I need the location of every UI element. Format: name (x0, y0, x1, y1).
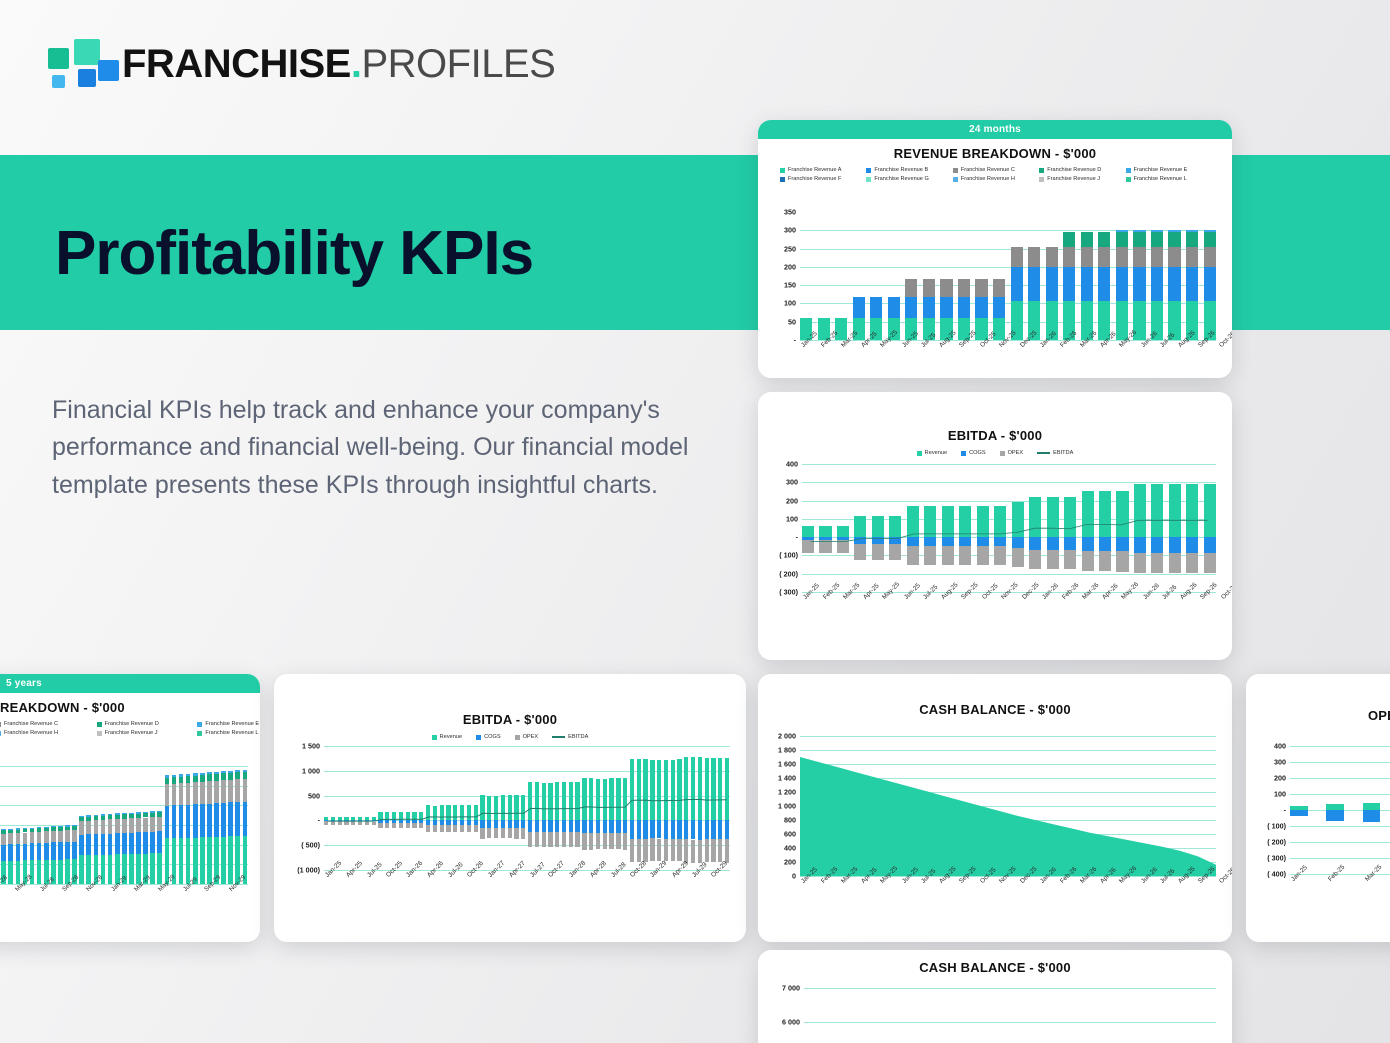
bar-segment (129, 813, 134, 814)
bar-column (143, 766, 148, 884)
y-axis-tick: 250 (784, 244, 796, 253)
bar-column (8, 766, 13, 884)
bar-segment (58, 826, 63, 827)
bar-segment (94, 834, 99, 855)
bar-segment (108, 834, 113, 855)
bar-segment (1204, 247, 1216, 267)
legend-item: EBITDA (1037, 450, 1073, 456)
bar-column (115, 766, 120, 884)
legend-item: Revenue (432, 734, 462, 740)
bar-segment (37, 860, 42, 884)
legend-label: Franchise Revenue E (205, 721, 259, 727)
bar-segment (1133, 232, 1145, 247)
bar-segment (1081, 247, 1093, 267)
bar-segment (1290, 810, 1308, 816)
hero-paragraph: Financial KPIs help track and enhance yo… (52, 392, 712, 504)
bar-segment (72, 830, 77, 842)
chart-xaxis-revenue-24: Jan-25Feb-25Mar-25Apr-25May-25Jun-25Jul-… (800, 344, 1216, 351)
bar-segment (1, 829, 6, 830)
y-axis-tick: ( 400) (1267, 870, 1286, 879)
bar-segment (179, 838, 184, 884)
y-axis-tick: 300 (1274, 758, 1286, 767)
bar-segment (143, 832, 148, 854)
bar-segment (44, 831, 49, 842)
legend-item: Franchise Revenue E (1126, 167, 1210, 173)
bar-segment (72, 825, 77, 826)
legend-swatch-icon (515, 735, 520, 740)
bar-segment (200, 804, 205, 837)
legend-swatch-icon (1037, 452, 1050, 454)
chart-plot-ebitda-24: 400300200100-( 100)( 200)( 300) (802, 464, 1216, 592)
bar-segment (16, 828, 21, 829)
bar-segment (214, 772, 219, 774)
bar-series (0, 766, 248, 884)
bar-column (136, 766, 141, 884)
bar-column (58, 766, 63, 884)
y-axis-tick: 1 000 (302, 766, 320, 775)
bar-segment (8, 830, 13, 833)
chart-title-revenue-24: REVENUE BREAKDOWN - $'000 (758, 146, 1232, 161)
bar-segment (235, 779, 240, 802)
bar-segment (207, 837, 212, 884)
bar-segment (30, 843, 35, 860)
y-axis-tick: - (796, 533, 798, 542)
bar-segment (923, 279, 935, 297)
y-axis-tick: 1 800 (778, 746, 796, 755)
bar-segment (207, 772, 212, 774)
bar-segment (186, 783, 191, 805)
bar-segment (1204, 267, 1216, 301)
y-axis-tick: 0 (792, 872, 796, 881)
brand-name-light: PROFILES (361, 42, 555, 86)
bar-column (122, 766, 127, 884)
bar-segment (1046, 267, 1058, 301)
y-axis-tick: 300 (786, 478, 798, 487)
legend-label: EBITDA (1053, 450, 1073, 456)
bar-column (835, 212, 847, 340)
legend-item: Franchise Revenue E (197, 721, 260, 727)
legend-item: Franchise Revenue L (1126, 176, 1210, 182)
bar-segment (1081, 267, 1093, 301)
bar-segment (101, 816, 106, 820)
bar-segment (1168, 267, 1180, 301)
y-axis-tick: ( 200) (779, 569, 798, 578)
bar-column (221, 766, 226, 884)
bar-column (193, 766, 198, 884)
bar-column (1116, 212, 1128, 340)
logo-mark-icon (46, 38, 108, 90)
legend-item: Franchise Revenue J (97, 730, 196, 736)
bar-segment (150, 811, 155, 812)
bar-segment (1133, 230, 1145, 233)
bar-segment (1116, 247, 1128, 267)
brand-logo: FRANCHISE.PROFILES (46, 38, 555, 90)
bar-column (1098, 212, 1110, 340)
bar-segment (8, 829, 13, 830)
bar-segment (214, 774, 219, 781)
bar-segment (86, 821, 91, 835)
y-axis-tick: - (794, 336, 796, 345)
card-cash-balance-5-years[interactable]: CASH BALANCE - $'000 7 0006 0005 000 (758, 950, 1232, 1043)
y-axis-tick: 150 (784, 281, 796, 290)
bar-segment (122, 819, 127, 833)
y-axis-tick: 50 (788, 317, 796, 326)
bar-segment (79, 855, 84, 884)
bar-segment (115, 833, 120, 854)
bar-segment (129, 833, 134, 854)
bar-segment (1326, 810, 1344, 821)
y-axis-tick: ( 200) (1267, 838, 1286, 847)
bar-segment (143, 813, 148, 817)
bar-segment (200, 775, 205, 782)
bar-segment (1168, 247, 1180, 267)
bar-segment (16, 833, 21, 844)
chart-xaxis-ebitda-24: Jan-25Feb-25Mar-25Apr-25May-25Jun-25Jul-… (802, 596, 1218, 603)
bar-column (1326, 746, 1344, 874)
bar-segment (79, 835, 84, 856)
card-cash-balance-24-months[interactable]: CASH BALANCE - $'000 2 0001 8001 6001 40… (758, 674, 1232, 942)
bar-segment (221, 780, 226, 803)
bar-segment (1, 830, 6, 833)
y-axis-tick: 500 (308, 791, 320, 800)
bar-segment (1046, 247, 1058, 267)
legend-label: Franchise Revenue L (1134, 176, 1187, 182)
bar-segment (94, 820, 99, 834)
legend-swatch-icon (1126, 177, 1131, 182)
legend-label: Franchise Revenue C (4, 721, 58, 727)
bar-column (1168, 212, 1180, 340)
y-axis-tick: - (1284, 806, 1286, 815)
bar-segment (1168, 232, 1180, 247)
bar-segment (30, 829, 35, 832)
bar-segment (1168, 230, 1180, 233)
bar-segment (221, 771, 226, 773)
bar-column (958, 212, 970, 340)
bar-column (235, 766, 240, 884)
y-axis-tick: ( 300) (1267, 854, 1286, 863)
gridline (324, 870, 730, 871)
bar-segment (993, 297, 1005, 318)
bar-segment (993, 279, 1005, 297)
chart-xaxis-cash-24: Jan-25Feb-25Mar-25Apr-25May-25Jun-25Jul-… (800, 880, 1220, 887)
chart-xaxis-ebitda-5: Jan-25Apr-25Jul-25Oct-25Jan-26Apr-26Jul-… (324, 874, 730, 881)
x-axis-tick: Oct-26 (1218, 866, 1232, 885)
bar-segment (179, 774, 184, 776)
bar-segment (79, 816, 84, 817)
bar-segment (129, 814, 134, 818)
bar-segment (853, 297, 865, 318)
bar-segment (157, 853, 162, 884)
bar-segment (58, 860, 63, 884)
bar-segment (86, 817, 91, 821)
card-ebitda-5-years[interactable]: EBITDA - $'000 RevenueCOGSOPEXEBITDA 1 5… (274, 674, 746, 942)
bar-segment (8, 833, 13, 844)
bar-segment (8, 844, 13, 861)
bar-segment (243, 779, 248, 802)
legend-swatch-icon (197, 731, 202, 736)
y-axis-tick: 350 (784, 208, 796, 217)
bar-segment (1151, 230, 1163, 233)
legend-item: OPEX (1000, 450, 1024, 456)
bar-segment (23, 828, 28, 829)
bar-segment (143, 818, 148, 832)
chart-legend-ebitda-5: RevenueCOGSOPEXEBITDA (274, 734, 746, 740)
bar-column (179, 766, 184, 884)
bar-segment (157, 831, 162, 853)
bar-segment (65, 827, 70, 831)
y-axis-tick: 100 (786, 514, 798, 523)
bar-segment (200, 782, 205, 804)
legend-item: Franchise Revenue D (1039, 167, 1123, 173)
legend-swatch-icon (917, 451, 922, 456)
bar-column (1204, 212, 1216, 340)
bar-column (1133, 212, 1145, 340)
bar-segment (186, 838, 191, 884)
bar-segment (65, 830, 70, 842)
bar-column (1011, 212, 1023, 340)
bar-column (30, 766, 35, 884)
bar-segment (16, 861, 21, 884)
y-axis-tick: 800 (784, 816, 796, 825)
bar-segment (37, 832, 42, 843)
chart-title-ebitda-24: EBITDA - $'000 (758, 428, 1232, 443)
bar-column (1186, 212, 1198, 340)
bar-column (108, 766, 113, 884)
bar-segment (193, 782, 198, 804)
bar-column (905, 212, 917, 340)
y-axis-tick: (1 000) (297, 866, 320, 875)
legend-item: COGS (476, 734, 500, 740)
chart-legend-revenue-5: Franchise Revenue CFranchise Revenue DFr… (0, 721, 260, 736)
legend-item: Revenue (917, 450, 947, 456)
chart-title-ebitda-5: EBITDA - $'000 (274, 712, 746, 727)
bar-segment (172, 775, 177, 777)
legend-swatch-icon (197, 722, 202, 727)
bar-segment (228, 836, 233, 884)
legend-item: EBITDA (552, 734, 588, 740)
legend-label: OPEX (1008, 450, 1024, 456)
bar-column (888, 212, 900, 340)
y-axis-tick: 1 500 (302, 742, 320, 751)
legend-label: Franchise Revenue G (874, 176, 928, 182)
bar-segment (94, 816, 99, 820)
bar-segment (44, 827, 49, 828)
bar-segment (1098, 232, 1110, 247)
legend-label: Franchise Revenue L (205, 730, 258, 736)
bar-column (1063, 212, 1075, 340)
chart-title-cash-24: CASH BALANCE - $'000 (758, 702, 1232, 717)
legend-item: Franchise Revenue A (780, 167, 864, 173)
legend-label: EBITDA (568, 734, 588, 740)
legend-label: Franchise Revenue H (961, 176, 1015, 182)
bar-segment (1151, 267, 1163, 301)
bar-column (44, 766, 49, 884)
bar-segment (172, 777, 177, 784)
bar-segment (115, 819, 120, 833)
legend-label: Franchise Revenue B (874, 167, 928, 173)
bar-segment (51, 827, 56, 830)
legend-item: COGS (961, 450, 985, 456)
bar-segment (157, 811, 162, 812)
chart-legend-revenue-24: Franchise Revenue AFranchise Revenue BFr… (780, 167, 1210, 182)
card-ebitda-24-months[interactable]: EBITDA - $'000 RevenueCOGSOPEXEBITDA 400… (758, 392, 1232, 660)
bar-segment (37, 827, 42, 828)
bar-segment (51, 842, 56, 859)
bar-segment (16, 830, 21, 833)
bar-column (101, 766, 106, 884)
legend-item: Franchise Revenue D (97, 721, 196, 727)
bar-segment (179, 805, 184, 838)
bar-segment (172, 784, 177, 806)
y-axis-tick: ( 500) (301, 841, 320, 850)
bar-column (1151, 212, 1163, 340)
bar-segment (1116, 230, 1128, 233)
bar-column (993, 212, 1005, 340)
bar-column (940, 212, 952, 340)
legend-label: COGS (969, 450, 985, 456)
bar-segment (214, 803, 219, 837)
bar-segment (16, 844, 21, 861)
chart-plot-revenue-5 (0, 766, 248, 884)
y-axis-tick: 1 200 (778, 788, 796, 797)
bar-segment (108, 855, 113, 884)
bar-segment (1133, 267, 1145, 301)
legend-swatch-icon (780, 168, 785, 173)
bar-segment (179, 783, 184, 805)
chart-xaxis-revenue-5: Jan-27Mar-27May-27Jul-27Sep-27Nov-27Jan-… (0, 888, 248, 895)
bar-segment (136, 812, 141, 813)
chart-title-opex: OPE (1246, 708, 1390, 723)
legend-label: Franchise Revenue J (1047, 176, 1100, 182)
legend-label: Franchise Revenue D (1047, 167, 1101, 173)
bar-segment (1011, 267, 1023, 301)
bar-segment (23, 844, 28, 861)
bar-segment (1098, 247, 1110, 267)
legend-swatch-icon (97, 731, 102, 736)
brand-name-bold: FRANCHISE (122, 42, 351, 86)
legend-item: Franchise Revenue G (866, 176, 950, 182)
legend-swatch-icon (953, 168, 958, 173)
bar-segment (958, 279, 970, 297)
bar-column (923, 212, 935, 340)
bar-segment (165, 778, 170, 785)
bar-segment (172, 805, 177, 838)
area-series (800, 736, 1216, 876)
bar-segment (79, 817, 84, 821)
bar-segment (193, 773, 198, 775)
card-revenue-breakdown-24-months[interactable]: 24 months REVENUE BREAKDOWN - $'000 Fran… (758, 120, 1232, 378)
legend-swatch-icon (552, 736, 565, 738)
bar-segment (23, 833, 28, 844)
legend-label: Franchise Revenue J (105, 730, 158, 736)
y-axis-tick: - (318, 816, 320, 825)
legend-swatch-icon (0, 731, 1, 736)
bar-column (1046, 212, 1058, 340)
bar-segment (58, 827, 63, 830)
y-axis-tick: 400 (784, 844, 796, 853)
bar-segment (143, 812, 148, 813)
bar-segment (975, 297, 987, 318)
bar-segment (243, 770, 248, 772)
ebitda-line (802, 464, 1216, 592)
bar-segment (1028, 247, 1040, 267)
chart-plot-cash-24: 2 0001 8001 6001 4001 2001 0008006004002… (800, 736, 1216, 876)
bar-segment (1363, 810, 1381, 822)
bar-segment (1011, 247, 1023, 267)
bar-segment (905, 297, 917, 318)
bar-segment (44, 843, 49, 860)
bar-segment (165, 775, 170, 777)
bar-segment (186, 805, 191, 838)
legend-swatch-icon (1039, 177, 1044, 182)
bar-segment (905, 279, 917, 297)
bar-segment (150, 817, 155, 832)
bar-segment (115, 813, 120, 814)
bar-segment (108, 814, 113, 815)
bar-segment (129, 854, 134, 884)
bar-column (207, 766, 212, 884)
y-axis-tick: 200 (1274, 774, 1286, 783)
chart-xaxis-opex: Jan-25Feb-25Mar-25Apr-25May-25Jun-25Jul-… (1290, 878, 1390, 885)
bar-segment (940, 297, 952, 318)
bar-segment (1151, 247, 1163, 267)
bar-column (79, 766, 84, 884)
y-axis-tick: 6 000 (782, 1018, 800, 1027)
bar-segment (1116, 232, 1128, 247)
bar-segment (44, 828, 49, 831)
bar-segment (30, 832, 35, 843)
bar-segment (58, 831, 63, 843)
bar-segment (136, 814, 141, 818)
brand-name-dot: . (351, 42, 362, 86)
bar-segment (221, 837, 226, 884)
legend-item: Franchise Revenue C (953, 167, 1037, 173)
bar-segment (1363, 803, 1381, 810)
bar-segment (101, 814, 106, 815)
bar-segment (235, 802, 240, 836)
legend-item: Franchise Revenue B (866, 167, 950, 173)
bar-segment (940, 279, 952, 297)
bar-segment (1151, 232, 1163, 247)
bar-segment (30, 828, 35, 829)
bar-segment (207, 804, 212, 838)
chart-title-revenue-5: REAKDOWN - $'000 (0, 700, 260, 715)
bar-segment (888, 297, 900, 318)
bar-column (51, 766, 56, 884)
legend-label: Franchise Revenue F (788, 176, 841, 182)
legend-swatch-icon (1039, 168, 1044, 173)
bar-segment (1186, 232, 1198, 247)
y-axis-tick: 300 (784, 226, 796, 235)
bar-segment (186, 776, 191, 783)
bar-column (975, 212, 987, 340)
bar-segment (58, 842, 63, 859)
card-opex[interactable]: OPE 400300200100-( 100)( 200)( 300)( 400… (1246, 674, 1390, 942)
bar-segment (193, 804, 198, 837)
bar-segment (186, 774, 191, 776)
bar-column (165, 766, 170, 884)
y-axis-tick: 200 (786, 496, 798, 505)
bar-segment (228, 802, 233, 836)
bar-segment (243, 802, 248, 836)
bar-column (1081, 212, 1093, 340)
y-axis-tick: 2 000 (778, 732, 796, 741)
bar-segment (65, 825, 70, 826)
bar-segment (228, 771, 233, 773)
bar-segment (1, 834, 6, 845)
bar-segment (1063, 232, 1075, 247)
card-revenue-breakdown-5-years[interactable]: 5 years REAKDOWN - $'000 Franchise Reven… (0, 674, 260, 942)
